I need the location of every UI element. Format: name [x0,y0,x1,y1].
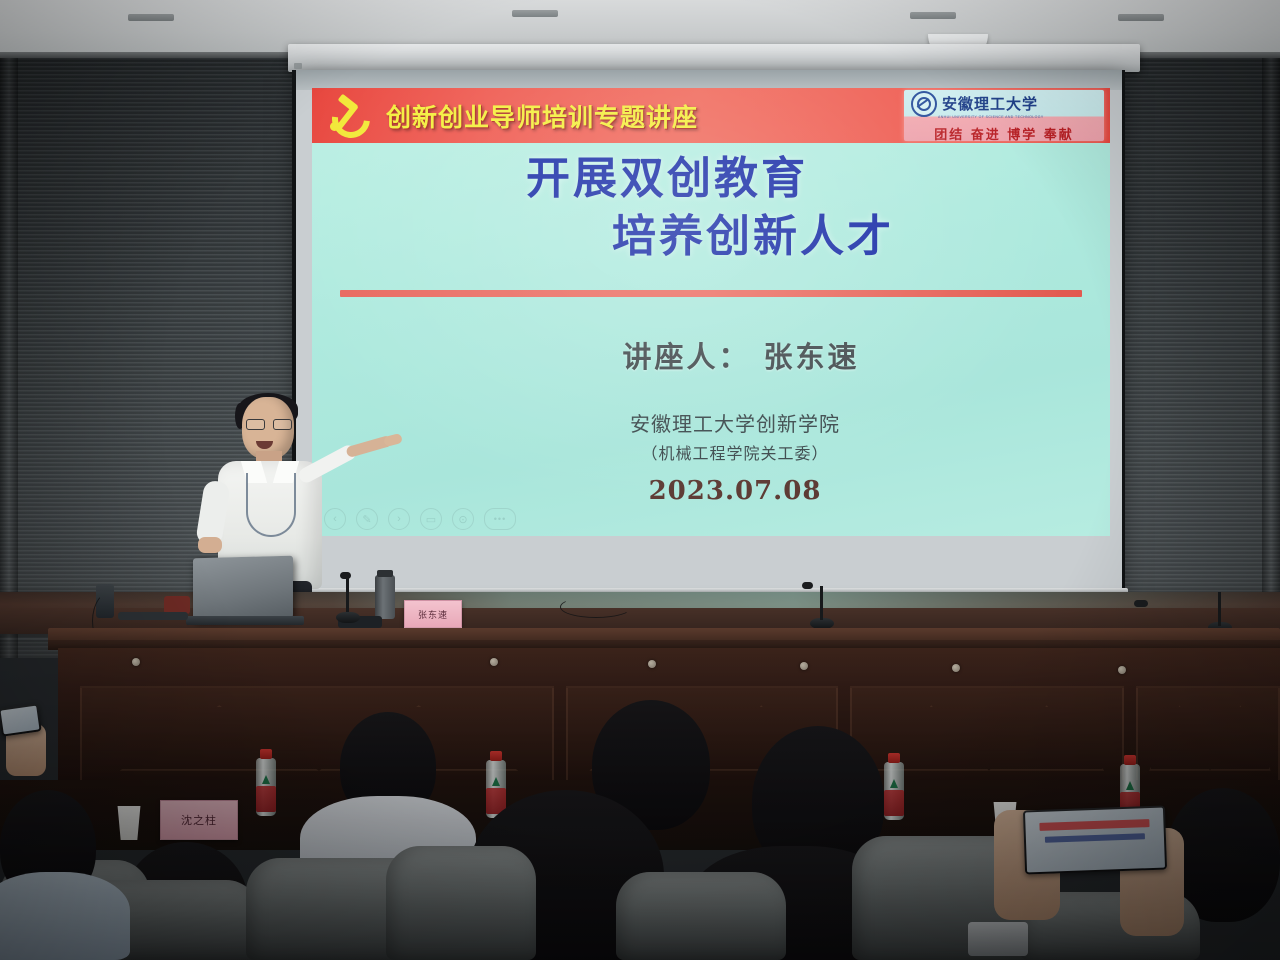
university-logo: 安徽理工大学 ANHUI UNIVERSITY OF SCIENCE AND T… [904,90,1104,141]
microphone-head [802,582,813,589]
podium-panel-pattern [120,705,519,770]
glasses-icon [246,419,292,429]
ceiling-light [910,12,956,19]
podium-stud [1118,666,1126,674]
ceiling-light [512,10,558,17]
namecard-audience: 沈之柱 [160,800,238,840]
water-bottle [884,762,904,820]
namecard-speaker: 张东速 [404,600,462,628]
smartphone-screen [1,706,40,735]
smartphone-screen-content [1045,833,1145,842]
podium-ledge-reflection [0,592,1280,608]
speaker-hand-left [198,537,222,553]
presentation-slide: 创新创业导师培训专题讲座 安徽理工大学 ANHUI UNIVERSITY OF … [312,88,1110,536]
microphone-neck [1218,592,1221,626]
presentation-toolbar[interactable]: ‹ ✎ › ▭ ⊙ ••• [324,508,516,530]
university-name: 安徽理工大学 [942,97,1038,112]
presenter-view-button[interactable]: ▭ [420,508,442,530]
laptop [193,556,293,621]
university-english-name: ANHUI UNIVERSITY OF SCIENCE AND TECHNOLO… [938,115,1104,119]
podium-stud [132,658,140,666]
microphone-head [1134,600,1148,607]
organization-name: 安徽理工大学创新学院 [630,412,840,436]
slide-speaker-label: 讲座人： 张东速 [342,334,1110,376]
smartphone[interactable] [1023,806,1167,875]
auditorium-seat [386,846,536,960]
audience-shoulders [0,872,130,960]
thermos [375,575,395,619]
smartphone[interactable] [0,703,42,736]
pen-tool-button[interactable]: ✎ [356,508,378,530]
wall-pillar-left [0,58,18,658]
wall-pillar-right [1262,58,1280,658]
title-divider [340,290,1082,297]
slide-banner: 创新创业导师培训专题讲座 安徽理工大学 ANHUI UNIVERSITY OF … [312,88,1110,143]
projector-screen-case [288,44,1140,72]
microphone-head [340,572,351,579]
next-slide-button[interactable]: › [388,508,410,530]
podium-panel [80,686,554,786]
lanyard [246,473,296,537]
cpc-hammer-sickle-icon [328,94,374,138]
podium-panel-pattern [874,705,1105,770]
university-seal-icon [911,91,937,117]
water-bottle [256,758,276,816]
organization-subtitle: （机械工程学院关工委） [336,440,1110,464]
wristwatch [968,922,1028,956]
slide-date: 2023.07.08 [336,476,1110,506]
podium-stud [648,660,656,668]
zoom-button[interactable]: ⊙ [452,508,474,530]
microphone-neck [346,578,349,612]
bottle-label [884,790,904,816]
cable [560,596,632,618]
smartphone-screen [1025,808,1165,873]
auditorium-seat [616,872,786,960]
slide-organization: 安徽理工大学创新学院 （机械工程学院关工委） [336,408,1110,464]
more-options-button[interactable]: ••• [484,508,516,530]
bottle-label [256,786,276,812]
podium-rail [48,628,1280,650]
slide-heading: 开展双创教育 培养创新人才 [312,150,1110,266]
microphone-base [336,612,360,623]
microphone-neck [820,586,823,620]
slide-heading-line1: 开展双创教育 [312,150,1066,208]
university-motto: 团结 奋进 博学 奉献 [904,122,1104,141]
lecture-hall-photo: 创新创业导师培训专题讲座 安徽理工大学 ANHUI UNIVERSITY OF … [0,0,1280,960]
smartphone-screen-banner [1039,819,1150,831]
slide-heading-line2: 培养创新人才 [354,208,1110,266]
podium-stud [800,662,808,670]
podium-panel [1136,686,1280,786]
ceiling-light [128,14,174,21]
ceiling-light [1118,14,1164,21]
laptop-base [186,616,304,625]
screen-top-shadow [296,70,1122,90]
podium-stud [952,664,960,672]
podium-panel-pattern [1149,705,1271,770]
banner-title: 创新创业导师培训专题讲座 [386,98,698,134]
podium-stud [490,658,498,666]
